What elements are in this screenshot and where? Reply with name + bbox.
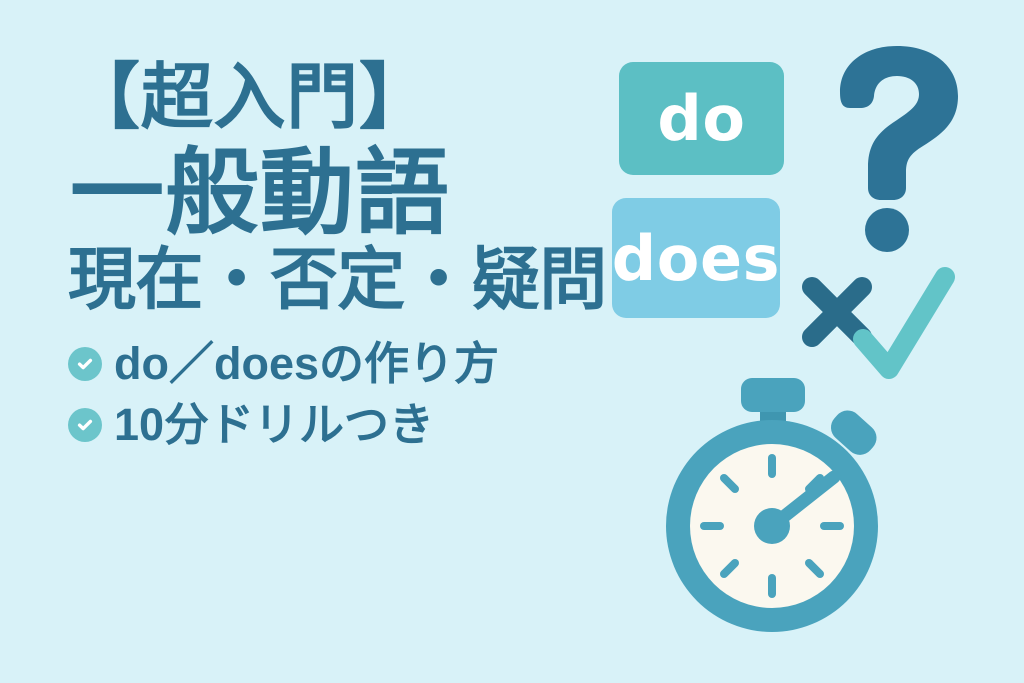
word-card-does: does: [612, 198, 780, 318]
text-column: 【超入門】 一般動語 現在・否定・疑問 do／doesの作り方 10分ドリルつ: [68, 62, 598, 463]
list-item-label: do／doesの作り方: [114, 340, 499, 387]
illustration-group: do does: [600, 0, 1024, 683]
stopwatch-icon: [638, 370, 908, 635]
check-mark-icon: [845, 265, 963, 387]
check-circle-icon: [68, 347, 102, 381]
list-item-label: 10分ドリルつき: [114, 401, 434, 448]
check-circle-icon: [68, 408, 102, 442]
question-mark-icon: [818, 38, 978, 253]
thumbnail-canvas: 【超入門】 一般動語 現在・否定・疑問 do／doesの作り方 10分ドリルつ: [0, 0, 1024, 683]
list-item: do／doesの作り方: [68, 340, 598, 387]
title-line-2: 一般動語: [70, 146, 598, 240]
bullet-list: do／doesの作り方 10分ドリルつき: [68, 340, 598, 449]
title-line-3: 現在・否定・疑問: [68, 246, 598, 314]
word-card-do: do: [619, 62, 784, 175]
list-item: 10分ドリルつき: [68, 401, 598, 448]
title-line-1: 【超入門】: [68, 62, 598, 134]
